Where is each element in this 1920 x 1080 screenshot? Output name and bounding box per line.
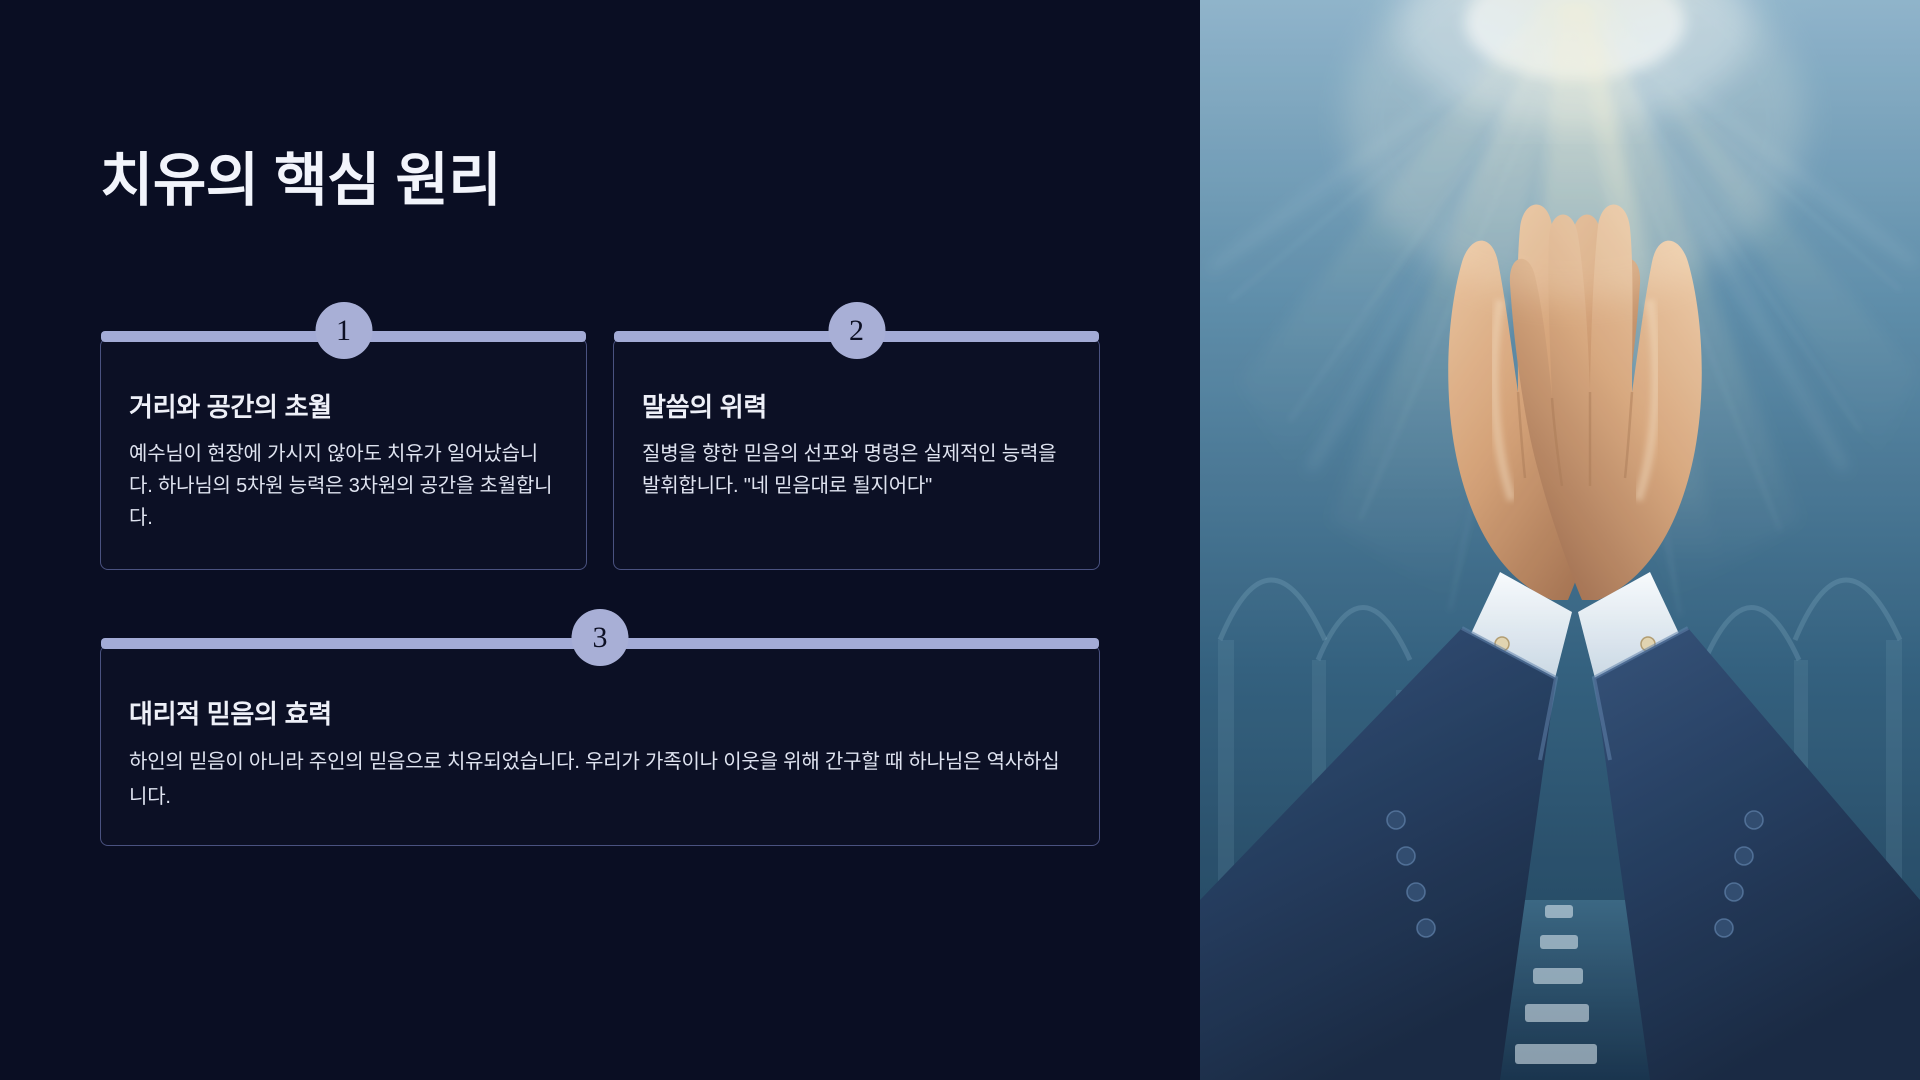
content-column: 치유의 핵심 원리 1 거리와 공간의 초월 예수님이 현장에 가시지 않아도 … <box>0 0 1200 1080</box>
card-title: 말씀의 위력 <box>642 391 1071 424</box>
card-3[interactable]: 3 대리적 믿음의 효력 하인의 믿음이 아니라 주인의 믿음으로 치유되었습니… <box>100 645 1100 846</box>
card-body: 예수님이 현장에 가시지 않아도 치유가 일어났습니다. 하나님의 5차원 능력… <box>129 438 558 535</box>
card-body: 하인의 믿음이 아니라 주인의 믿음으로 치유되었습니다. 우리가 가족이나 이… <box>129 745 1071 815</box>
card-number-badge: 2 <box>828 302 885 359</box>
card-body: 질병을 향한 믿음의 선포와 명령은 실제적인 능력을 발휘합니다. "네 믿음… <box>642 438 1071 503</box>
card-number-badge: 3 <box>572 609 629 666</box>
card-row-bottom: 3 대리적 믿음의 효력 하인의 믿음이 아니라 주인의 믿음으로 치유되었습니… <box>100 645 1100 846</box>
card-row-top: 1 거리와 공간의 초월 예수님이 현장에 가시지 않아도 치유가 일어났습니다… <box>100 338 1100 570</box>
page-title: 치유의 핵심 원리 <box>100 148 501 215</box>
card-title: 거리와 공간의 초월 <box>129 391 558 424</box>
card-number-badge: 1 <box>315 302 372 359</box>
card-1[interactable]: 1 거리와 공간의 초월 예수님이 현장에 가시지 않아도 치유가 일어났습니다… <box>100 338 587 570</box>
hero-photo <box>1200 0 1920 1080</box>
card-2[interactable]: 2 말씀의 위력 질병을 향한 믿음의 선포와 명령은 실제적인 능력을 발휘합… <box>613 338 1100 570</box>
card-title: 대리적 믿음의 효력 <box>129 698 1071 731</box>
slide-root: 치유의 핵심 원리 1 거리와 공간의 초월 예수님이 현장에 가시지 않아도 … <box>0 0 1920 1080</box>
